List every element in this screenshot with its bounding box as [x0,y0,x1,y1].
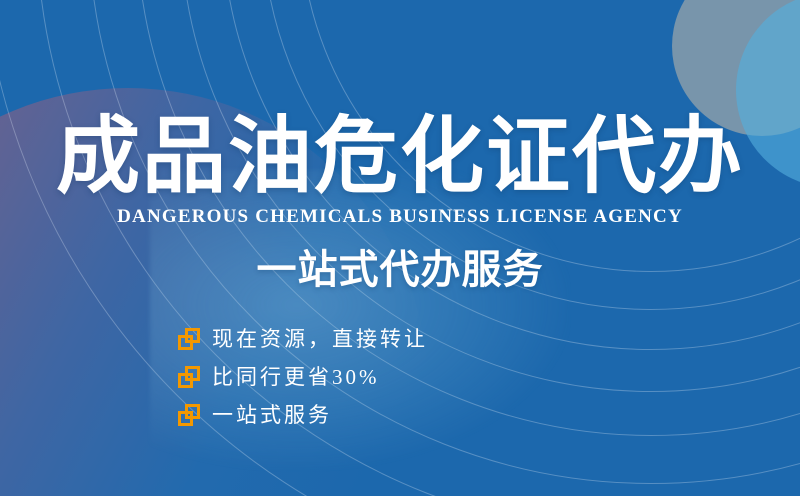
list-item-label: 比同行更省30% [212,364,380,390]
list-item: 一站式服务 [178,396,638,434]
sub-title: 一站式代办服务 [0,246,800,294]
feature-list: 现在资源，直接转让 比同行更省30% 一站式服务 [178,320,638,434]
banner-content: 成品油危化证代办 DANGEROUS CHEMICALS BUSINESS LI… [0,0,800,496]
list-item: 比同行更省30% [178,358,638,396]
double-square-icon [178,366,200,388]
promotional-banner: 成品油危化证代办 DANGEROUS CHEMICALS BUSINESS LI… [0,0,800,496]
double-square-icon [178,328,200,350]
double-square-icon [178,404,200,426]
list-item: 现在资源，直接转让 [178,320,638,358]
main-title: 成品油危化证代办 [0,112,800,200]
list-item-label: 现在资源，直接转让 [212,326,428,352]
list-item-label: 一站式服务 [212,402,332,428]
english-subtitle: DANGEROUS CHEMICALS BUSINESS LICENSE AGE… [0,205,800,229]
